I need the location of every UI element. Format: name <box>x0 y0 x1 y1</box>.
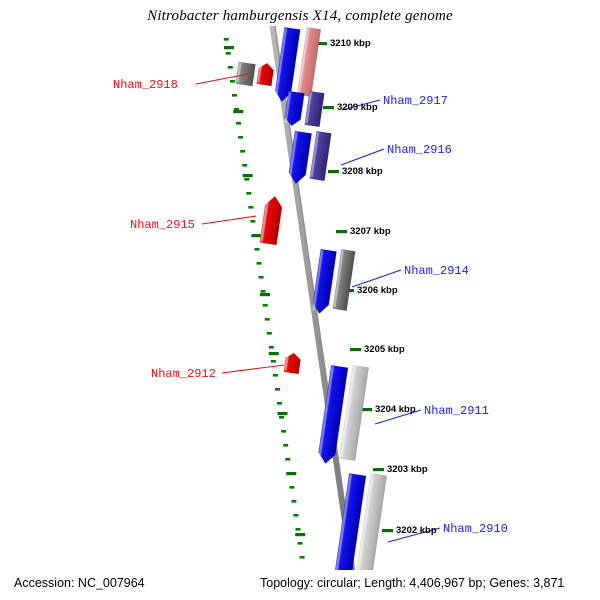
tick-mark-minor <box>293 514 298 517</box>
tick-mark-minor <box>285 458 290 461</box>
axis-tick-label: 3203 kbp <box>387 464 428 475</box>
tick-mark-minor <box>236 122 241 125</box>
tick-mark-minor <box>250 220 255 223</box>
axis-tick-mark <box>328 170 339 173</box>
gene-feature[interactable] <box>333 249 356 310</box>
axis-tick-mark <box>373 468 384 471</box>
tick-mark-minor <box>269 346 274 349</box>
axis-tick-label: 3210 kbp <box>330 38 371 49</box>
gene-label-nham_2915[interactable]: Nham_2915 <box>130 218 195 232</box>
genome-summary-text: Topology: circular; Length: 4,406,967 bp… <box>260 576 564 590</box>
axis-tick-label: 3207 kbp <box>350 226 391 237</box>
gene-label-nham_2912[interactable]: Nham_2912 <box>151 367 216 381</box>
gene-label-nham_2911[interactable]: Nham_2911 <box>424 404 489 418</box>
tick-mark-minor <box>232 94 237 97</box>
gene-feature[interactable] <box>305 91 325 127</box>
gene-feature[interactable] <box>260 195 284 245</box>
tick-mark-minor <box>246 192 251 195</box>
gene-feature[interactable] <box>310 131 332 181</box>
tick-mark-major <box>277 412 287 415</box>
tick-mark-minor <box>265 318 270 321</box>
tick-mark-major <box>251 234 261 237</box>
gene-leader-line <box>341 149 384 165</box>
axis-tick-label: 3209 kbp <box>337 102 378 113</box>
genome-viewer: Nitrobacter hamburgensis X14, complete g… <box>0 0 600 600</box>
tick-mark-minor <box>295 528 300 531</box>
gene-feature[interactable] <box>284 352 302 374</box>
gene-leader-line <box>222 365 284 373</box>
tick-mark-minor <box>224 38 229 41</box>
accession-text: Accession: NC_007964 <box>14 576 145 590</box>
tick-mark-minor <box>238 136 243 139</box>
axis-tick-label: 3206 kbp <box>357 285 398 296</box>
gene-leader-line <box>202 216 256 224</box>
tick-mark-major <box>295 533 305 536</box>
tick-mark-major <box>269 352 279 355</box>
tick-mark-minor <box>277 402 282 405</box>
status-bar: Accession: NC_007964 Topology: circular;… <box>0 570 600 600</box>
tick-mark-minor <box>248 206 253 209</box>
tick-mark-minor <box>261 290 266 293</box>
gene-label-nham_2917[interactable]: Nham_2917 <box>383 94 448 108</box>
axis-tick-mark <box>323 106 334 109</box>
gene-label-nham_2914[interactable]: Nham_2914 <box>404 264 469 278</box>
tick-mark-major <box>224 46 234 49</box>
tick-mark-minor <box>291 500 296 503</box>
tick-mark-minor <box>275 388 280 391</box>
gene-features <box>236 27 387 600</box>
tick-mark-minor <box>254 248 259 251</box>
tick-mark-minor <box>230 80 235 83</box>
axis-tick-mark <box>382 529 393 532</box>
gene-label-nham_2918[interactable]: Nham_2918 <box>113 78 178 92</box>
tick-mark-minor <box>281 430 286 433</box>
gene-label-nham_2916[interactable]: Nham_2916 <box>387 143 452 157</box>
axis-tick-label: 3202 kbp <box>396 525 437 536</box>
axis-tick-mark <box>350 348 361 351</box>
tick-mark-major <box>260 293 270 296</box>
tick-mark-minor <box>259 276 264 279</box>
tick-mark-minor <box>263 304 268 307</box>
gene-feature[interactable] <box>311 249 336 315</box>
tick-mark-minor <box>273 374 278 377</box>
gene-label-nham_2910[interactable]: Nham_2910 <box>443 522 508 536</box>
tick-mark-minor <box>240 150 245 153</box>
tick-mark-minor <box>279 416 284 419</box>
tick-mark-minor <box>267 332 272 335</box>
tick-mark-minor <box>257 262 262 265</box>
tick-mark-major <box>233 110 243 113</box>
tick-mark-minor <box>242 164 247 167</box>
tick-mark-minor <box>244 178 249 181</box>
tick-mark-minor <box>228 66 233 69</box>
tick-mark-minor <box>289 486 294 489</box>
tick-mark-major <box>286 472 296 475</box>
genome-diagram: 3210 kbp3209 kbp3208 kbp3207 kbp3206 kbp… <box>0 0 600 600</box>
tick-mark-minor <box>226 52 231 55</box>
tick-mark-minor <box>283 444 288 447</box>
gene-feature[interactable] <box>256 62 274 86</box>
tick-mark-major <box>243 174 253 177</box>
axis-tick-label: 3204 kbp <box>375 404 416 415</box>
tick-mark-minor <box>300 556 305 559</box>
gene-feature[interactable] <box>297 27 321 96</box>
axis-tick-label: 3205 kbp <box>364 344 405 355</box>
tick-mark-minor <box>271 360 276 363</box>
tick-mark-minor <box>298 542 303 545</box>
axis-tick-label: 3208 kbp <box>342 166 383 177</box>
axis-tick-mark <box>336 230 347 233</box>
gene-label-texts: Nham_2918Nham_2915Nham_2912Nham_2917Nham… <box>113 78 508 536</box>
